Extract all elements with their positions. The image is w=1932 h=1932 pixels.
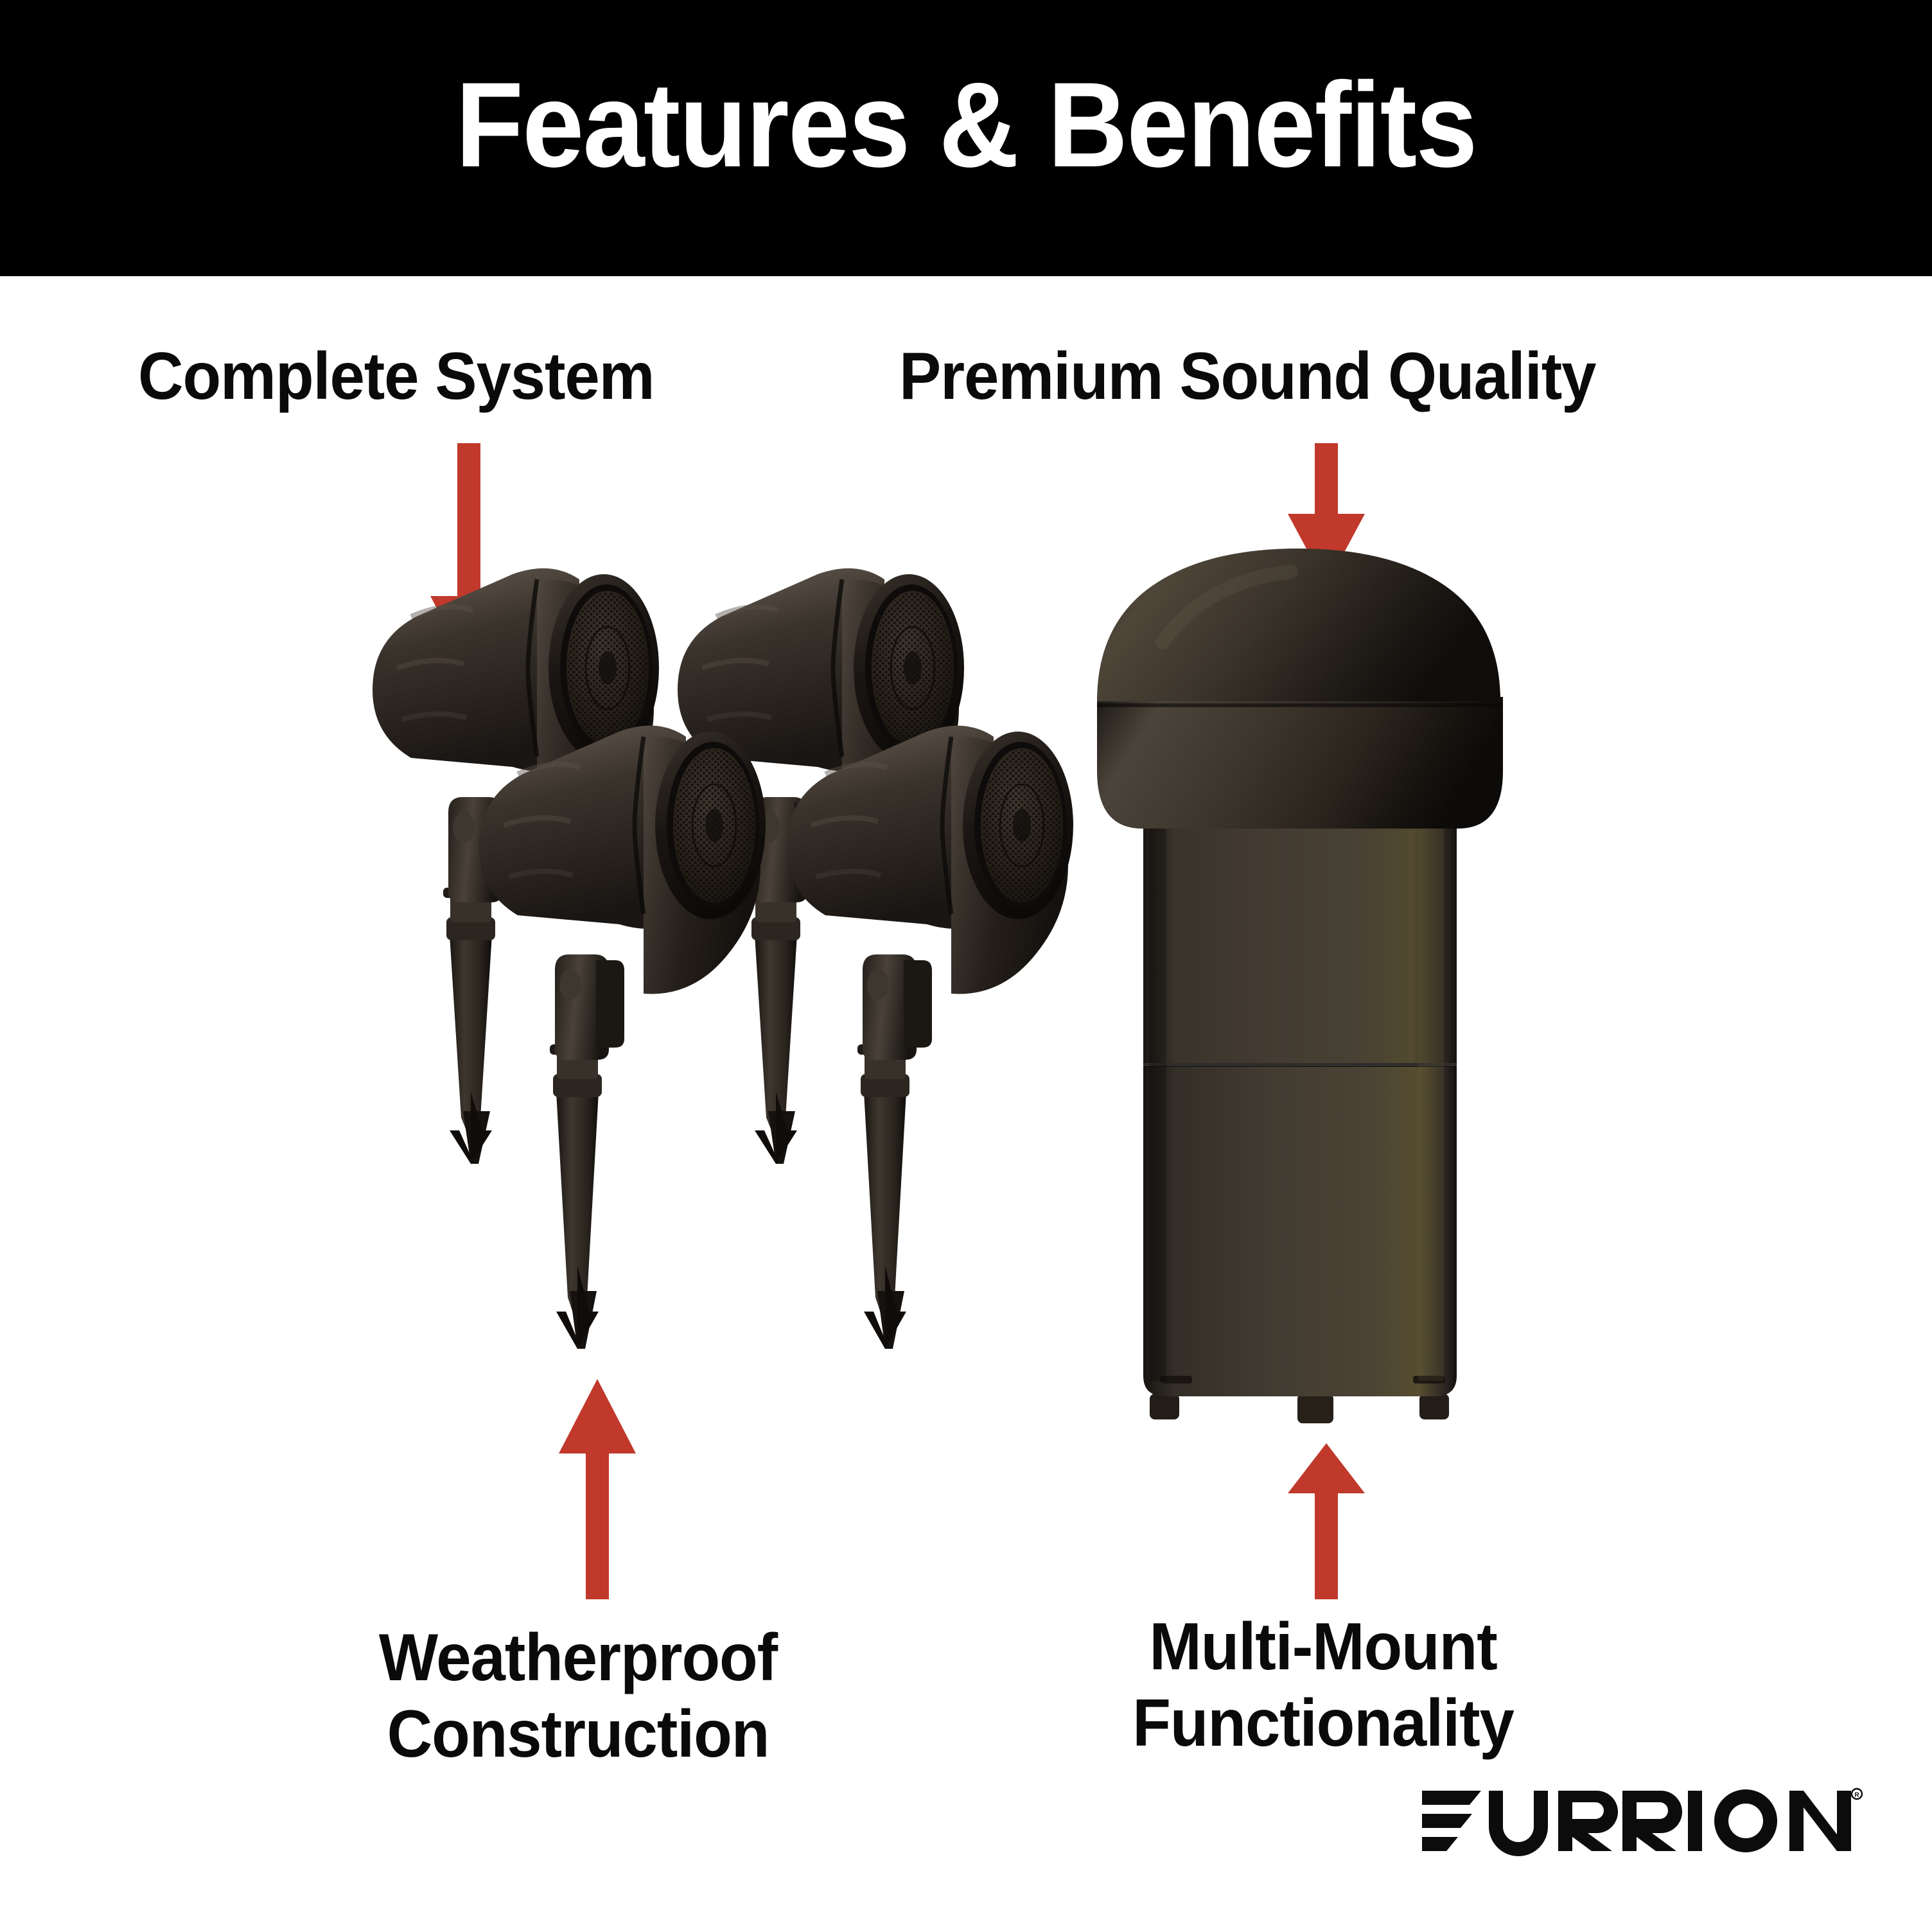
ground-spike-3	[550, 1044, 605, 1349]
ground-spike-1	[443, 888, 498, 1164]
speaker-unit-3	[479, 726, 766, 1349]
furrion-logo: R	[1419, 1786, 1863, 1856]
product-illustration	[0, 0, 1932, 1932]
ground-spike-4	[857, 1044, 913, 1349]
registered-trademark-icon: R	[1852, 1789, 1862, 1799]
subwoofer-unit	[1097, 549, 1503, 1423]
ground-spike-2	[748, 888, 804, 1164]
speaker-unit-4	[787, 726, 1073, 1349]
pivot-mount-4	[863, 954, 932, 1060]
svg-text:R: R	[1854, 1792, 1859, 1799]
infographic-page: Features & Benefits Complete System Prem…	[0, 0, 1932, 1932]
subwoofer-feet	[1150, 1394, 1449, 1423]
pivot-mount-3	[555, 954, 624, 1060]
